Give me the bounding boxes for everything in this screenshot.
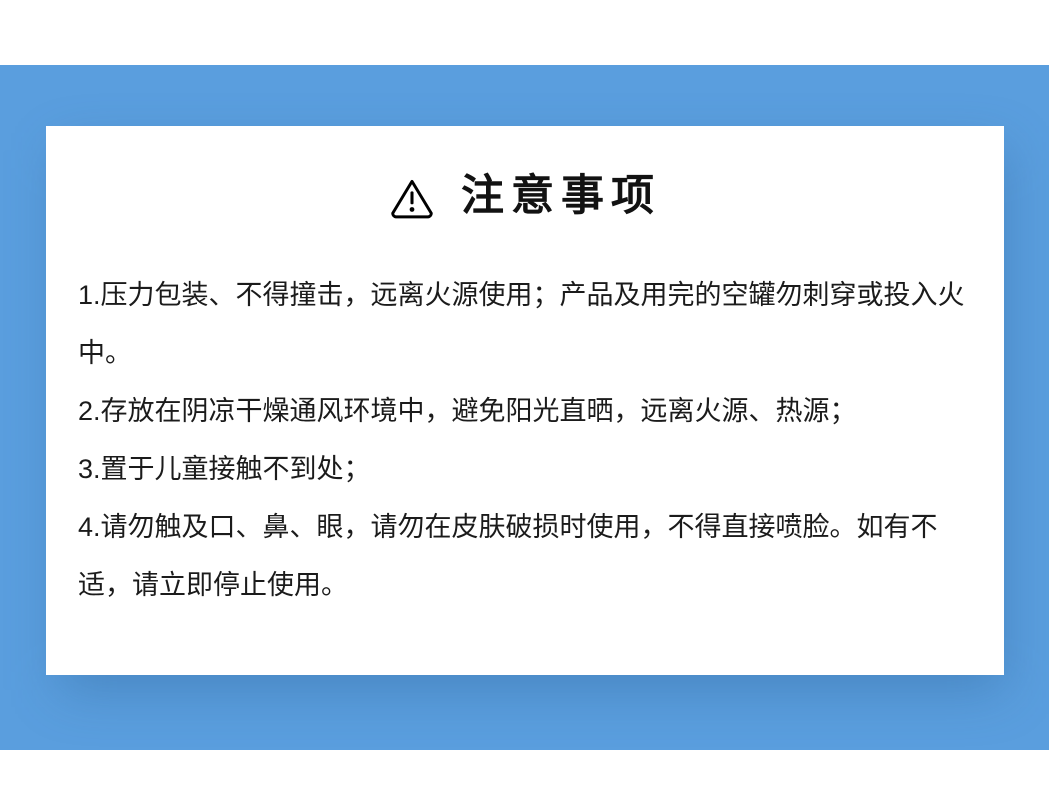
notice-page: 注意事项 1.压力包装、不得撞击，远离火源使用；产品及用完的空罐勿刺穿或投入火中…	[0, 0, 1049, 809]
page-title: 注意事项	[461, 175, 661, 218]
notice-title-row: 注意事项	[46, 174, 1004, 219]
list-item: 4.请勿触及口、鼻、眼，请勿在皮肤破损时使用，不得直接喷脸。如有不适，请立即停止…	[78, 498, 978, 614]
notice-card: 注意事项 1.压力包装、不得撞击，远离火源使用；产品及用完的空罐勿刺穿或投入火中…	[46, 126, 1004, 675]
list-item: 2.存放在阴凉干燥通风环境中，避免阳光直晒，远离火源、热源；	[78, 382, 978, 440]
list-item: 1.压力包装、不得撞击，远离火源使用；产品及用完的空罐勿刺穿或投入火中。	[78, 266, 978, 382]
list-item: 3.置于儿童接触不到处；	[78, 440, 978, 498]
notice-card-inner: 注意事项 1.压力包装、不得撞击，远离火源使用；产品及用完的空罐勿刺穿或投入火中…	[46, 126, 1004, 675]
notice-list: 1.压力包装、不得撞击，远离火源使用；产品及用完的空罐勿刺穿或投入火中。 2.存…	[78, 266, 978, 614]
warning-triangle-icon	[389, 174, 435, 219]
